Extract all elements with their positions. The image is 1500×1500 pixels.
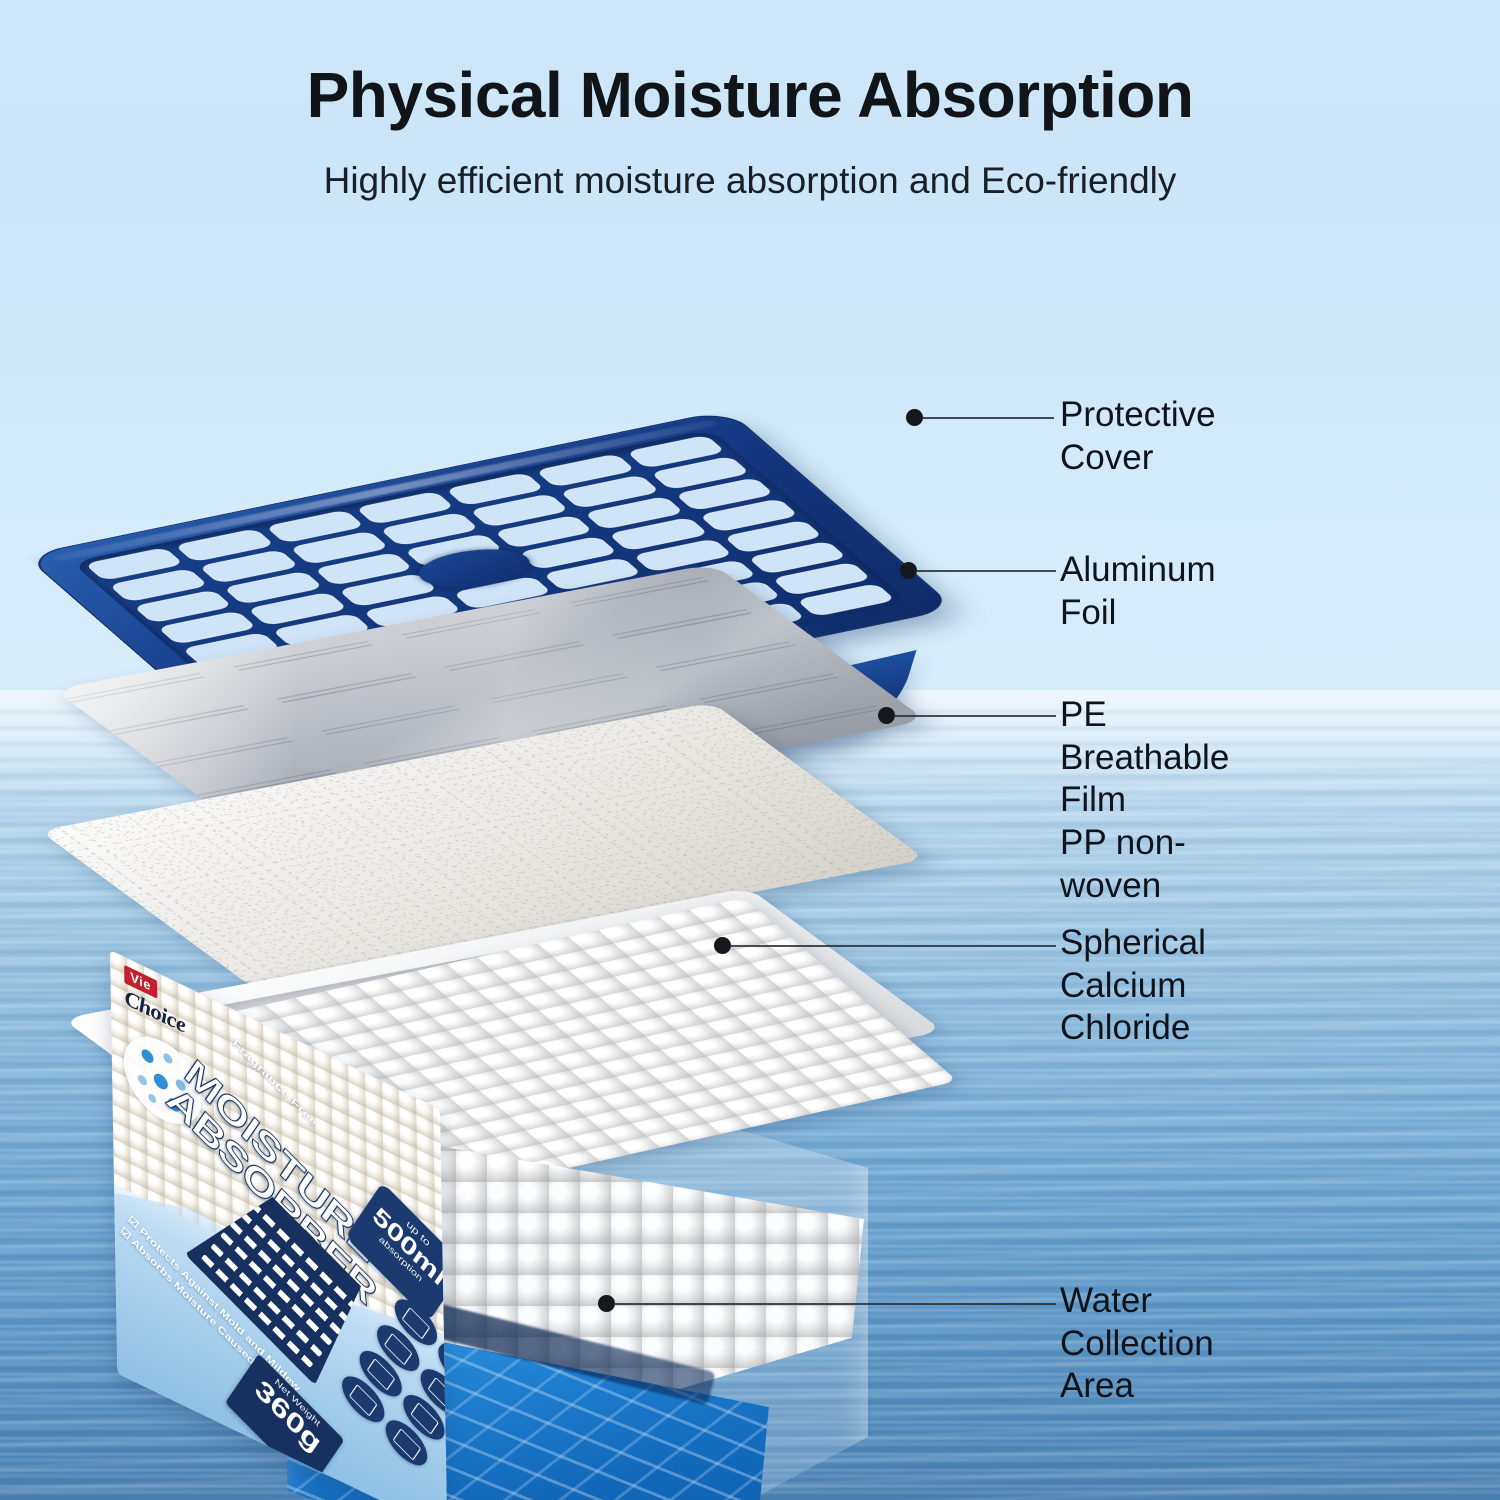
callout-line-aluminum-foil xyxy=(916,570,1056,572)
page-title: Physical Moisture Absorption xyxy=(0,58,1500,132)
layer-container-tub: Vie Choice Fragrance Free MOISTURE ABSOR… xyxy=(118,800,948,1500)
callout-label-water-collection: Water Collection Area xyxy=(1060,1280,1214,1408)
page-subtitle: Highly efficient moisture absorption and… xyxy=(0,160,1500,202)
callout-dot-calcium-chloride xyxy=(714,937,731,954)
callout-dot-aluminum-foil xyxy=(900,562,917,579)
callout-label-calcium-chloride: Spherical Calcium Chloride xyxy=(1060,922,1206,1050)
callout-line-protective-cover xyxy=(922,417,1054,419)
callout-line-water-collection xyxy=(614,1303,1056,1305)
callout-label-pe-film: PE Breathable Film PP non-woven xyxy=(1060,694,1229,907)
callout-dot-water-collection xyxy=(598,1295,615,1312)
callout-label-protective-cover: Protective Cover xyxy=(1060,394,1216,479)
callout-dot-pe-film xyxy=(878,707,895,724)
callout-label-aluminum-foil: Aluminum Foil xyxy=(1060,549,1216,634)
infographic-canvas: Physical Moisture Absorption Highly effi… xyxy=(0,0,1500,1500)
callout-dot-protective-cover xyxy=(906,409,923,426)
callout-line-calcium-chloride xyxy=(730,945,1056,947)
callout-line-pe-film xyxy=(894,715,1056,717)
